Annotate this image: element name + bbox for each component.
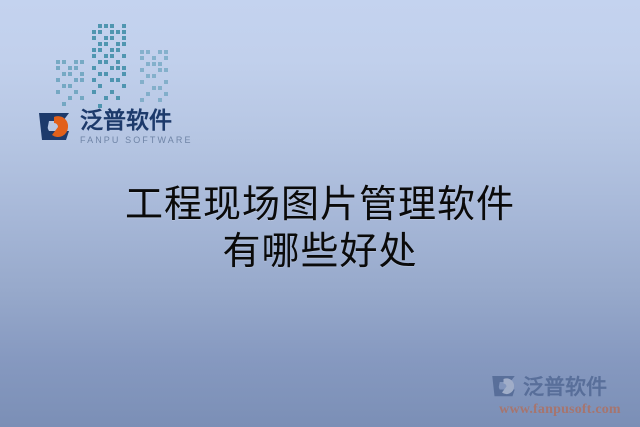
brand-logo: 泛普软件 FANPU SOFTWARE	[36, 104, 178, 150]
brand-wordmark: 泛普软件 FANPU SOFTWARE	[80, 110, 193, 145]
brand-name-cn: 泛普软件	[80, 110, 193, 133]
pixel-skyline-buildings-icon	[54, 20, 184, 112]
watermark-brand-name: 泛普软件	[523, 371, 607, 401]
watermark-url: www.fanpusoft.com	[490, 402, 630, 418]
watermark: 泛普软件 www.fanpusoft.com	[490, 371, 630, 419]
page-title: 工程现场图片管理软件 有哪些好处	[0, 182, 640, 276]
brand-name-en: FANPU SOFTWARE	[80, 136, 193, 145]
watermark-logo-row: 泛普软件	[490, 371, 630, 401]
fanpu-shield-swoosh-logo-icon	[36, 109, 76, 145]
page-title-line-2: 有哪些好处	[0, 229, 640, 276]
page-title-line-1: 工程现场图片管理软件	[0, 182, 640, 229]
fanpu-shield-swoosh-logo-icon	[490, 373, 520, 400]
promo-banner: 泛普软件 FANPU SOFTWARE 工程现场图片管理软件 有哪些好处 泛普软…	[0, 0, 640, 427]
